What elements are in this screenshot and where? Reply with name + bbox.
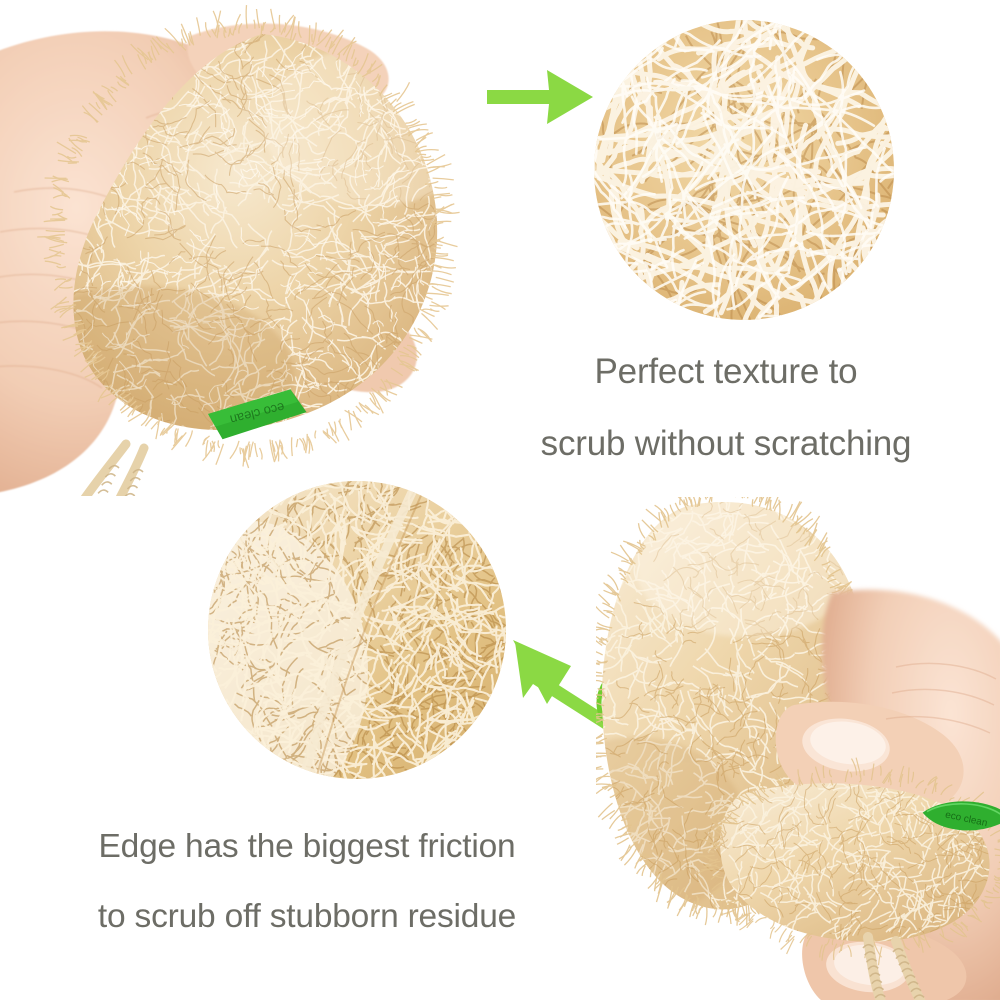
caption-bottom-line-2: to scrub off stubborn residue (22, 882, 592, 952)
caption-edge-friction: Edge has the biggest friction to scrub o… (22, 812, 592, 952)
infographic-canvas: eco clean (0, 0, 1000, 1000)
arrow-right-icon (485, 62, 595, 132)
inset-loofah-edge-closeup (208, 481, 506, 779)
photo-hand-squeezing-loofah-edge: eco clean (596, 497, 1000, 1000)
caption-bottom-line-1: Edge has the biggest friction (22, 812, 592, 882)
caption-top-line-2: scrub without scratching (468, 408, 984, 480)
caption-top-line-1: Perfect texture to (468, 336, 984, 408)
caption-perfect-texture: Perfect texture to scrub without scratch… (468, 336, 984, 480)
inset-loofah-fiber-mesh-closeup (594, 20, 894, 320)
photo-hand-holding-loofah-flat: eco clean (0, 0, 460, 496)
